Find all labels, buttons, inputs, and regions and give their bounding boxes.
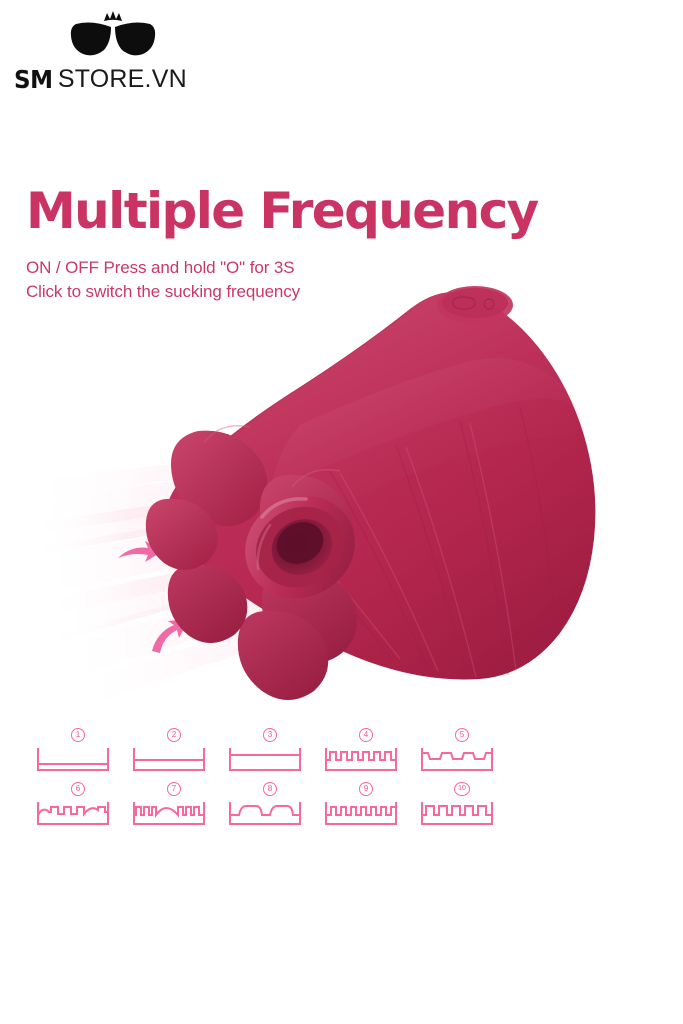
- rose-product-icon: [146, 286, 596, 700]
- frequency-mode-8[interactable]: 8: [222, 782, 318, 836]
- frequency-row-1: 1 2 3: [30, 728, 550, 782]
- frequency-number-10: 10: [454, 782, 470, 796]
- frequency-mode-4[interactable]: 4: [318, 728, 414, 782]
- frequency-waveform-1: [34, 744, 112, 778]
- frequency-waveform-2: [130, 744, 208, 778]
- frequency-waveform-3: [226, 744, 304, 778]
- frequency-row-2: 6 7 8: [30, 782, 550, 836]
- frequency-mode-7[interactable]: 7: [126, 782, 222, 836]
- frequency-number-7: 7: [167, 782, 181, 796]
- frequency-waveform-9: [322, 798, 400, 832]
- frequency-mode-1[interactable]: 1: [30, 728, 126, 782]
- frequency-waveform-8: [226, 798, 304, 832]
- frequency-number-4: 4: [359, 728, 373, 742]
- frequency-waveform-4: [322, 744, 400, 778]
- frequency-mode-10[interactable]: 10: [414, 782, 510, 836]
- frequency-mode-6[interactable]: 6: [30, 782, 126, 836]
- frequency-waveform-6: [34, 798, 112, 832]
- frequency-number-5: 5: [455, 728, 469, 742]
- frequency-number-9: 9: [359, 782, 373, 796]
- frequency-mode-grid: 1 2 3: [30, 728, 550, 836]
- product-illustration: [0, 255, 683, 715]
- brand-name-bold: SM: [14, 65, 53, 94]
- product-feature-page: SM STORE.VN Multiple Frequency ON / OFF …: [0, 0, 683, 1024]
- frequency-number-8: 8: [263, 782, 277, 796]
- frequency-number-3: 3: [263, 728, 277, 742]
- brand-name-rest: STORE.VN: [58, 65, 187, 94]
- frequency-waveform-10: [418, 798, 496, 832]
- rose-petals-crown-icon: [58, 8, 168, 60]
- frequency-mode-2[interactable]: 2: [126, 728, 222, 782]
- brand-logo[interactable]: SM STORE.VN: [14, 8, 214, 100]
- frequency-number-6: 6: [71, 782, 85, 796]
- frequency-mode-9[interactable]: 9: [318, 782, 414, 836]
- frequency-waveform-5: [418, 744, 496, 778]
- page-title: Multiple Frequency: [26, 185, 586, 237]
- brand-name: SM STORE.VN: [14, 64, 214, 94]
- frequency-mode-3[interactable]: 3: [222, 728, 318, 782]
- frequency-number-2: 2: [167, 728, 181, 742]
- power-button-emboss: [437, 286, 513, 324]
- frequency-waveform-7: [130, 798, 208, 832]
- frequency-number-1: 1: [71, 728, 85, 742]
- frequency-mode-5[interactable]: 5: [414, 728, 510, 782]
